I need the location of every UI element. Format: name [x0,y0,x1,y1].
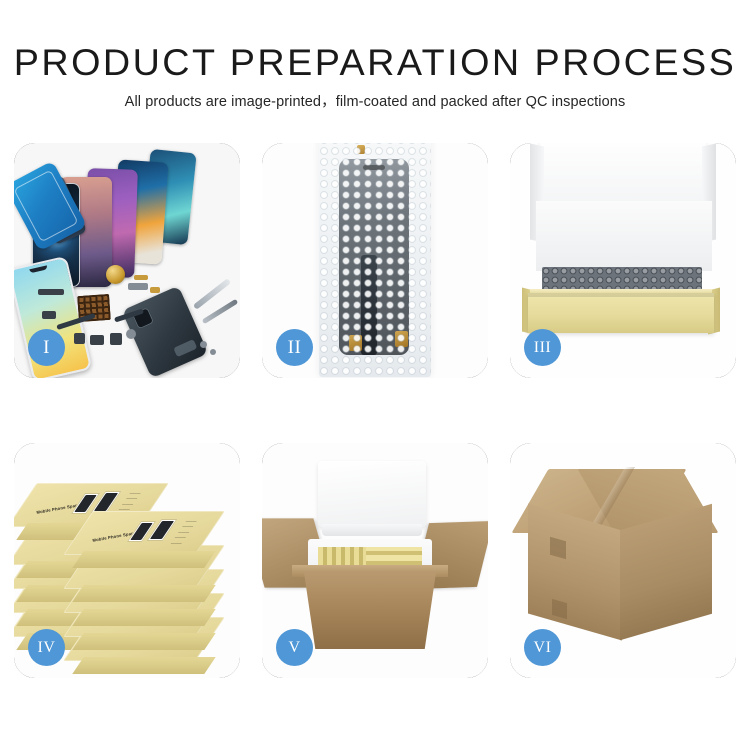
speaker-module-icon [106,265,125,284]
header: PRODUCT PREPARATION PROCESS All products… [0,0,750,110]
small-part-icon [42,311,56,319]
step-badge-4: IV [28,629,65,666]
screw-icon [126,329,136,339]
styrofoam-lid-icon [318,461,426,527]
step-badge-3: III [524,329,561,366]
process-step-panel-1: I [14,143,240,378]
process-step-panel-4: Mobile Phone Spare Parts ——————————————— [14,443,240,678]
step-badge-1: I [28,329,65,366]
small-part-icon [128,283,148,290]
white-foam-backing-icon [536,201,712,271]
small-part-icon [110,333,122,345]
bubble-texture [319,143,431,377]
step-badge-5: V [276,629,313,666]
small-part-icon [38,289,64,295]
step-badge-2: II [276,329,313,366]
process-steps-grid: I II [14,143,736,703]
small-part-icon [74,333,85,344]
step-badge-6: VI [524,629,561,666]
gold-contact-icon [134,275,148,280]
process-step-panel-3: III [510,143,736,378]
page-title: PRODUCT PREPARATION PROCESS [0,0,750,81]
carton-body-icon [298,571,442,649]
page-subtitle: All products are image-printed，film-coat… [0,81,750,110]
product-preparation-infographic: PRODUCT PREPARATION PROCESS All products… [0,0,750,750]
process-step-panel-2: II [262,143,488,378]
bubble-wrap-bag-icon [319,143,431,377]
process-step-panel-5: V [262,443,488,678]
yellow-box-front-icon [528,293,714,333]
screw-icon [210,349,216,355]
gold-contact-icon [150,287,160,293]
screw-icon [200,341,207,348]
small-part-icon [90,335,104,345]
process-step-panel-6: VI [510,443,736,678]
